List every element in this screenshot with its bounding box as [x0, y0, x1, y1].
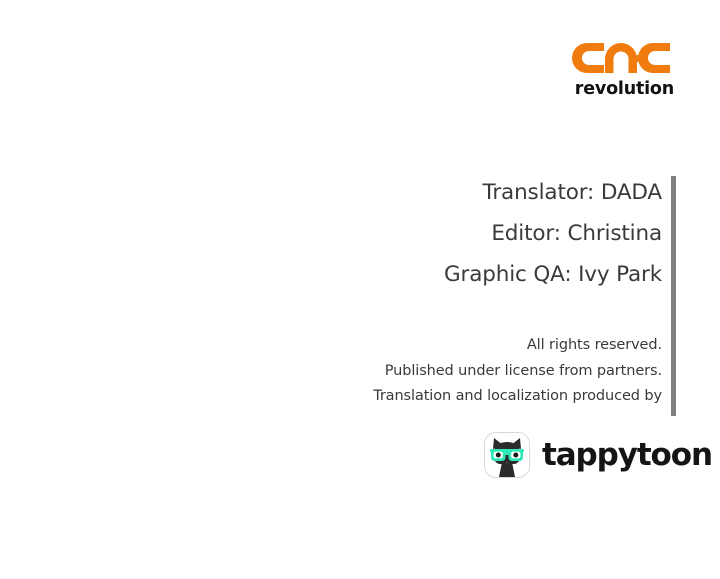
credit-line-translator: Translator: DADA: [330, 172, 668, 213]
credit-line-editor: Editor: Christina: [330, 213, 668, 254]
publisher-logo-cnc-revolution: revolution: [560, 40, 675, 102]
legal-line-rights: All rights reserved.: [330, 333, 668, 359]
legal-notice: All rights reserved. Published under lic…: [330, 333, 668, 410]
legal-line-license: Published under license from partners.: [330, 359, 668, 385]
credit-line-graphic-qa: Graphic QA: Ivy Park: [330, 254, 668, 295]
cat-with-glasses-icon: [484, 432, 530, 478]
publisher-logo-subtitle: revolution: [560, 79, 674, 99]
legal-line-localization: Translation and localization produced by: [330, 384, 668, 410]
vertical-divider-bar: [671, 176, 676, 416]
platform-logo-tappytoon: tappytoon: [484, 431, 712, 479]
credits-list: Translator: DADA Editor: Christina Graph…: [330, 172, 668, 295]
tappytoon-wordmark: tappytoon: [542, 438, 712, 472]
credits-page: revolution Translator: DADA Editor: Chri…: [0, 0, 720, 579]
cnc-wordmark-icon: [569, 40, 673, 76]
